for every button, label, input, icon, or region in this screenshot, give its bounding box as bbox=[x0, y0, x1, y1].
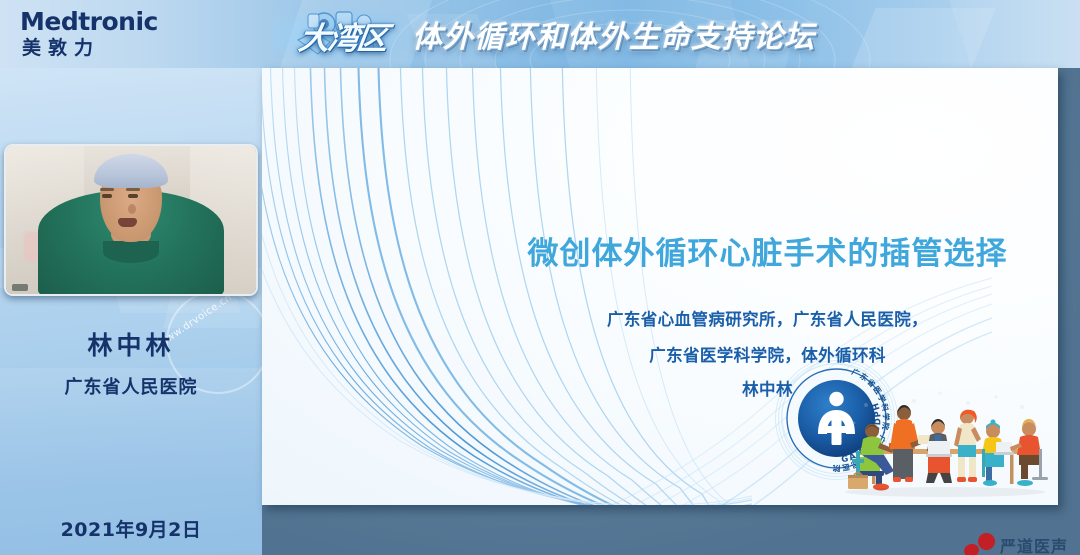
speaker-webcam-video[interactable] bbox=[4, 144, 258, 296]
greater-bay-area-emblem: 大湾区 bbox=[278, 4, 408, 66]
webcam-eyebrow-left bbox=[100, 188, 114, 191]
medtronic-logo: Medtronic 美敦力 bbox=[20, 9, 158, 58]
webcam-corner-badge bbox=[12, 284, 28, 291]
webcam-scrubs-collar bbox=[103, 241, 159, 263]
emblem-label: 大湾区 bbox=[274, 4, 413, 66]
speaker-organization: 广东省人民医院 bbox=[0, 373, 262, 399]
speaker-panel: www.drvoice.cn 林中林 广东省人民医院 2021年9月2日 bbox=[0, 68, 262, 555]
medtronic-logo-cn: 美敦力 bbox=[20, 39, 158, 58]
webcam-eye-left bbox=[102, 194, 112, 198]
broadcaster-name: 严道医声 bbox=[1000, 533, 1068, 555]
slide-subtitle-line-2: 广东省医学科学院，体外循环科 bbox=[262, 342, 1058, 366]
medtronic-logo-en: Medtronic bbox=[20, 9, 158, 34]
broadcaster-watermark: 严道医声 bbox=[964, 525, 1076, 555]
webcam-eyebrow-right bbox=[126, 188, 140, 191]
event-banner: Medtronic 美敦力 大湾区 体外循环和体外生命支持论坛 bbox=[0, 0, 1080, 68]
slide-subtitle-line-1: 广东省心血管病研究所，广东省人民医院， bbox=[262, 306, 1058, 330]
slide-title: 微创体外循环心脏手术的插管选择 bbox=[262, 228, 1058, 273]
teamwork-illustration bbox=[836, 387, 1054, 499]
presentation-date: 2021年9月2日 bbox=[0, 515, 262, 542]
speaker-name: 林中林 bbox=[0, 326, 262, 362]
webcam-eye-right bbox=[128, 194, 138, 198]
presentation-slide[interactable]: 广东省医学科学院·广东省人民医院 GAMS · GDPH 微创体外循环心脏手术的… bbox=[262, 68, 1058, 505]
webcam-mouth bbox=[118, 218, 137, 227]
webcam-nose bbox=[128, 204, 136, 214]
forum-title: 体外循环和体外生命支持论坛 bbox=[412, 12, 815, 56]
broadcaster-logo-icon bbox=[964, 533, 996, 555]
broadcast-stage: Medtronic 美敦力 大湾区 体外循环和体外生命支持论坛 bbox=[0, 0, 1080, 555]
